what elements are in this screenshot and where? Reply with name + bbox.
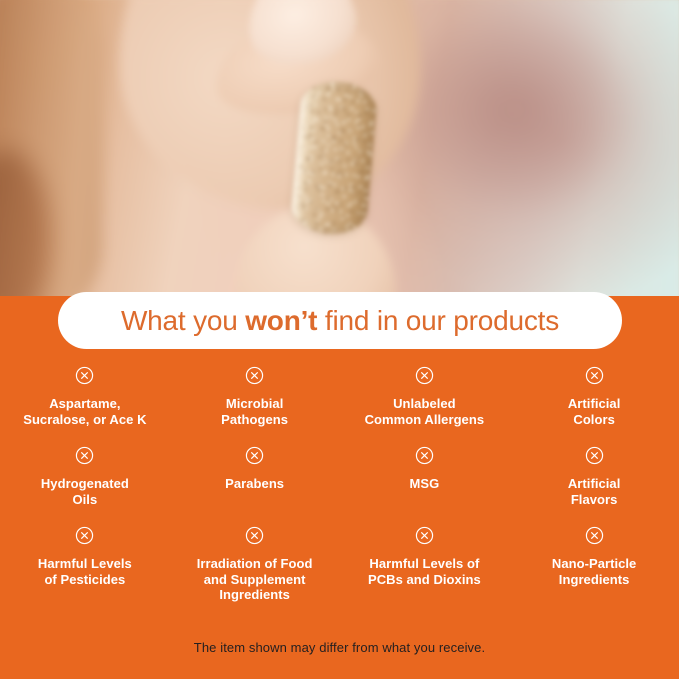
circle-x-icon [245,366,264,385]
exclusion-item: Harmful Levels of Pesticides [0,526,170,606]
circle-x-icon [585,366,604,385]
exclusion-item-label: Microbial Pathogens [221,396,288,427]
exclusion-item: Harmful Levels of PCBs and Dioxins [340,526,510,606]
product-exclusions-infographic: What you won’t find in our products Aspa… [0,0,679,679]
exclusion-item: Unlabeled Common Allergens [340,366,510,446]
product-photo [0,0,679,300]
footer: The item shown may differ from what you … [0,639,679,657]
circle-x-icon [75,366,94,385]
circle-x-icon [75,446,94,465]
circle-x-icon [415,366,434,385]
page-title: What you won’t find in our products [121,307,559,335]
circle-x-icon [585,526,604,545]
exclusion-item-label: Artificial Flavors [568,476,621,507]
exclusion-item: Hydrogenated Oils [0,446,170,526]
exclusion-item-label: Nano-Particle Ingredients [552,556,636,587]
headline-part-before: What you [121,305,245,336]
exclusion-item-label: Unlabeled Common Allergens [365,396,485,427]
circle-x-icon [75,526,94,545]
exclusion-item-label: Harmful Levels of Pesticides [38,556,132,587]
exclusions-grid: Aspartame, Sucralose, or Ace K Microbial… [0,366,679,606]
exclusion-item: Microbial Pathogens [170,366,340,446]
exclusion-item: Artificial Colors [509,366,679,446]
disclaimer-text: The item shown may differ from what you … [194,640,485,655]
exclusion-item-label: Irradiation of Food and Supplement Ingre… [197,556,313,603]
exclusion-item: Aspartame, Sucralose, or Ace K [0,366,170,446]
exclusion-item-label: Artificial Colors [568,396,621,427]
headline-pill: What you won’t find in our products [58,292,622,349]
circle-x-icon [585,446,604,465]
circle-x-icon [415,526,434,545]
exclusion-item-label: Hydrogenated Oils [41,476,129,507]
exclusion-item-label: Aspartame, Sucralose, or Ace K [23,396,146,427]
circle-x-icon [415,446,434,465]
exclusion-item: Nano-Particle Ingredients [509,526,679,606]
headline-part-after: find in our products [317,305,559,336]
headline-emphasis: won’t [245,305,317,336]
exclusion-item: Parabens [170,446,340,526]
photo-tablet [290,79,379,237]
exclusion-item-label: Harmful Levels of PCBs and Dioxins [368,556,481,587]
exclusion-item-label: MSG [409,476,439,492]
exclusion-item: Irradiation of Food and Supplement Ingre… [170,526,340,606]
circle-x-icon [245,526,264,545]
circle-x-icon [245,446,264,465]
exclusion-item: MSG [340,446,510,526]
exclusion-item-label: Parabens [225,476,284,492]
photo-background-blur-blob [400,10,630,210]
exclusion-item: Artificial Flavors [509,446,679,526]
